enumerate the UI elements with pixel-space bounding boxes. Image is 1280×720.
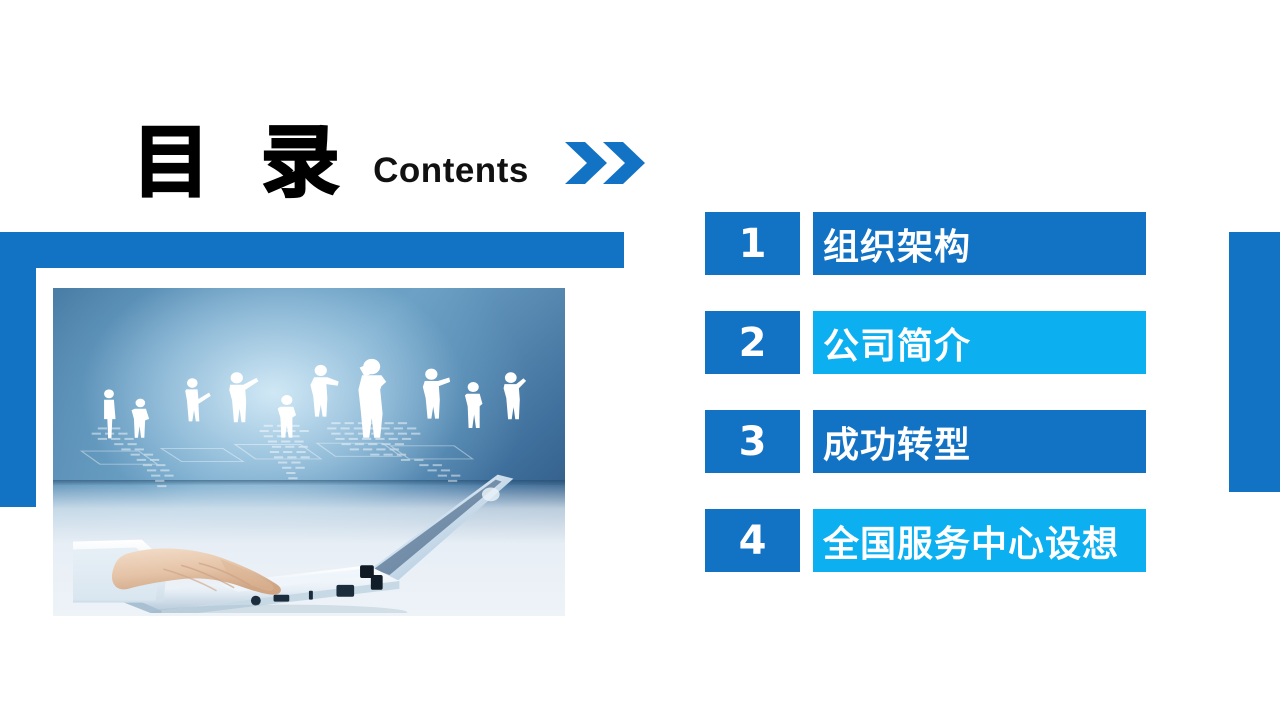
sidebar-item-label[interactable]: 公司简介: [813, 311, 1146, 374]
contents-list: 1 组织架构 2 公司简介 3 成功转型 4 全国服务中心设想: [705, 212, 1146, 572]
spacer: [800, 410, 813, 473]
list-item[interactable]: 3 成功转型: [705, 410, 1146, 473]
spacer: [800, 311, 813, 374]
contents-item-number: 3: [705, 410, 800, 473]
spacer: [800, 509, 813, 572]
list-item[interactable]: 2 公司简介: [705, 311, 1146, 374]
contents-item-number: 1: [705, 212, 800, 275]
page-title: 目 录 Contents: [132, 108, 645, 200]
sidebar-item-label[interactable]: 组织架构: [813, 212, 1146, 275]
laptop-and-hands-icon: [73, 455, 565, 612]
double-chevron-right-icon: [563, 140, 645, 186]
page-title-cn: 目 录: [132, 126, 351, 200]
people-silhouettes-icon: [84, 357, 535, 469]
list-item[interactable]: 1 组织架构: [705, 212, 1146, 275]
list-item[interactable]: 4 全国服务中心设想: [705, 509, 1146, 572]
contents-item-number: 4: [705, 509, 800, 572]
laptop-photo: [53, 288, 565, 616]
slide-canvas: 目 录 Contents: [0, 0, 1280, 720]
contents-item-number: 2: [705, 311, 800, 374]
page-title-en: Contents: [373, 151, 529, 191]
spacer: [800, 212, 813, 275]
sidebar-item-label[interactable]: 成功转型: [813, 410, 1146, 473]
sidebar-item-label[interactable]: 全国服务中心设想: [813, 509, 1146, 572]
right-decor-bar: [1229, 232, 1280, 492]
